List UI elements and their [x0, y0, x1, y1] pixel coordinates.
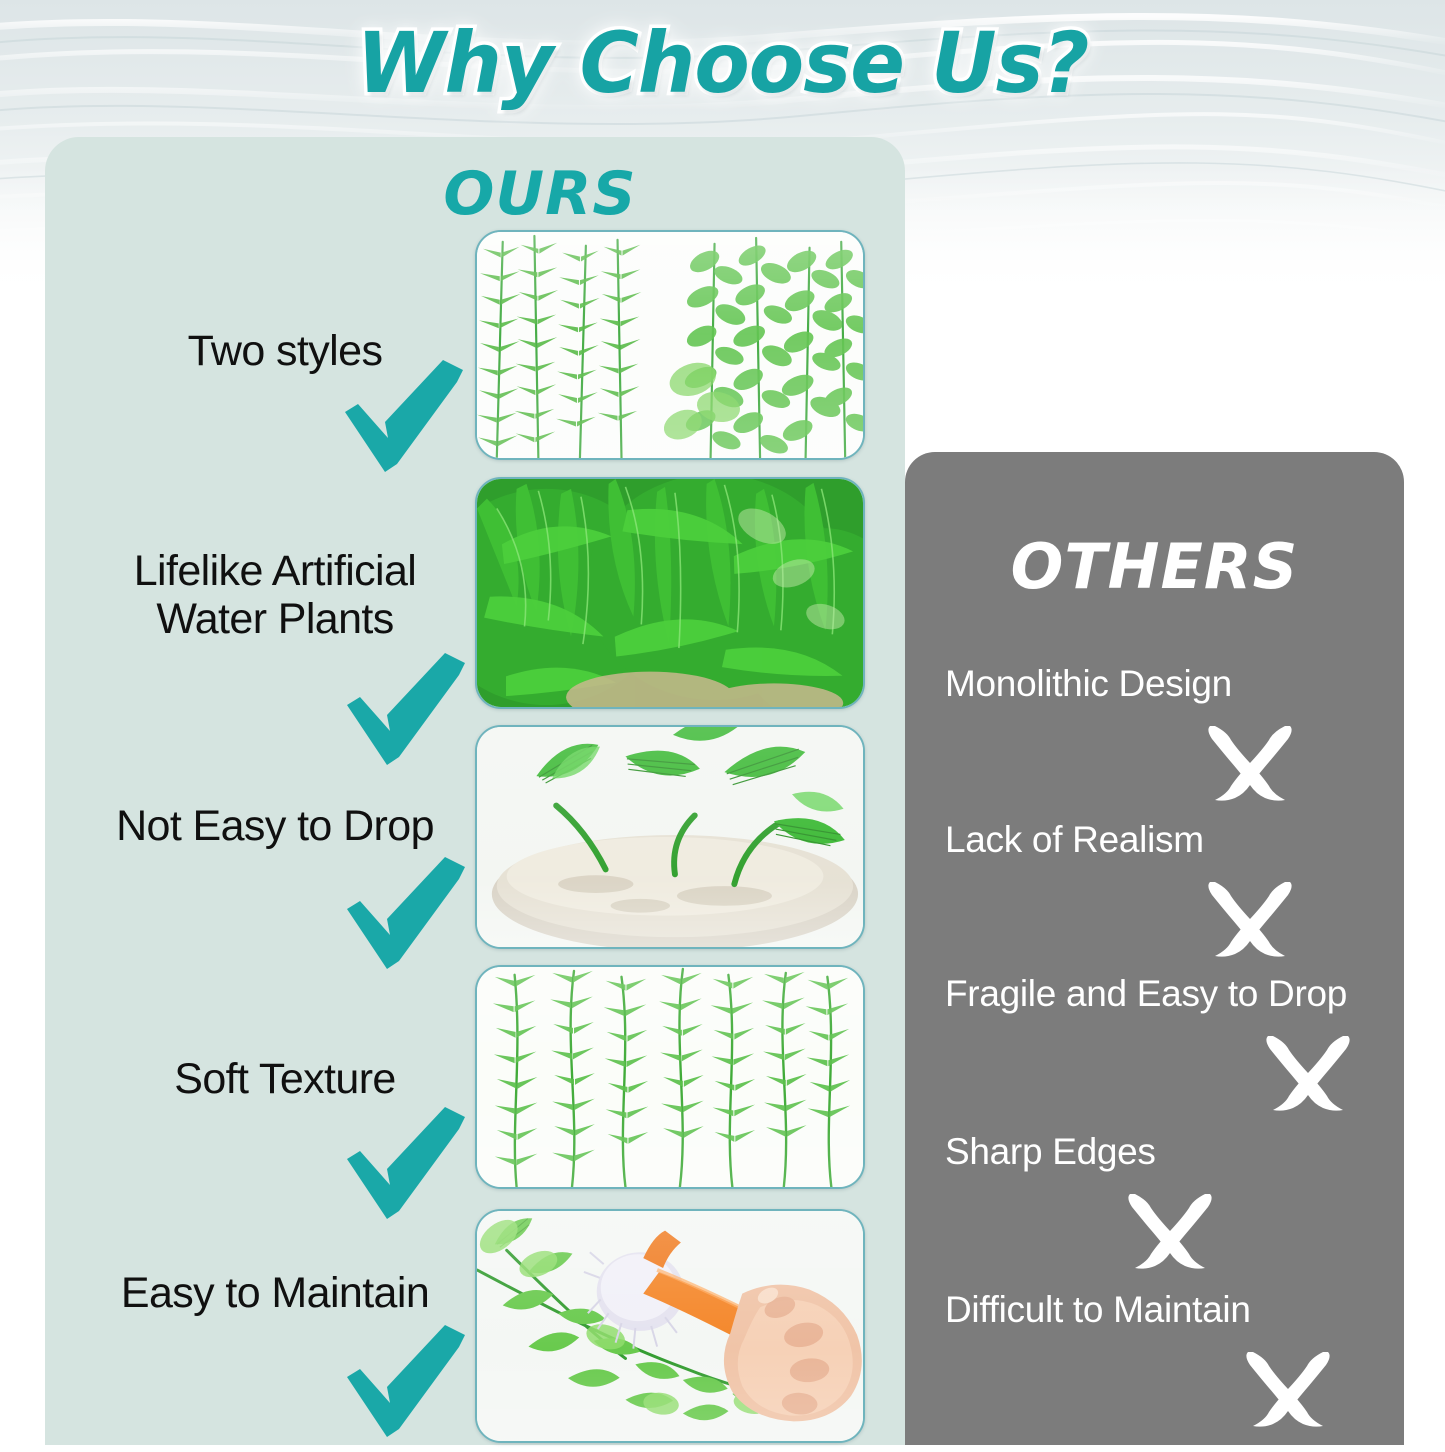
others-heading: OTHERS: [905, 530, 1404, 603]
product-photo-two-styles: [475, 230, 865, 460]
product-photo-lifelike-leaves: [475, 477, 865, 709]
ours-item-label: Lifelike ArtificialWater Plants: [75, 547, 475, 643]
check-icon: [325, 352, 475, 487]
x-icon: [1207, 876, 1293, 962]
others-item-label: Difficult to Maintain: [945, 1290, 1251, 1331]
others-item-label: Monolithic Design: [945, 664, 1232, 705]
x-icon: [1127, 1188, 1213, 1274]
ours-item-label-line2: Water Plants: [156, 595, 393, 643]
ours-item-label: Not Easy to Drop: [65, 802, 485, 850]
check-icon: [327, 1099, 477, 1234]
ours-item-label: Soft Texture: [105, 1055, 465, 1103]
ours-item-label: Easy to Maintain: [65, 1269, 485, 1317]
page-title: Why Choose Us?: [29, 14, 1416, 112]
ours-heading: OURS: [375, 159, 705, 229]
x-icon: [1245, 1346, 1331, 1432]
x-icon: [1265, 1030, 1351, 1116]
check-icon: [327, 849, 477, 984]
ours-panel: OURS Two styles: [45, 137, 905, 1445]
others-item-label: Lack of Realism: [945, 820, 1204, 861]
others-panel: OTHERS Monolithic Design Lack of Realism…: [905, 452, 1404, 1445]
product-photo-weighted-base: [475, 725, 865, 949]
others-item-label: Sharp Edges: [945, 1132, 1156, 1173]
x-icon: [1207, 720, 1293, 806]
product-photo-soft-texture-stems: [475, 965, 865, 1189]
check-icon: [327, 645, 477, 780]
product-photo-easy-to-maintain: [475, 1209, 865, 1443]
ours-item-label-line1: Lifelike Artificial: [134, 547, 417, 595]
others-item-label: Fragile and Easy to Drop: [945, 974, 1347, 1015]
check-icon: [327, 1317, 477, 1452]
